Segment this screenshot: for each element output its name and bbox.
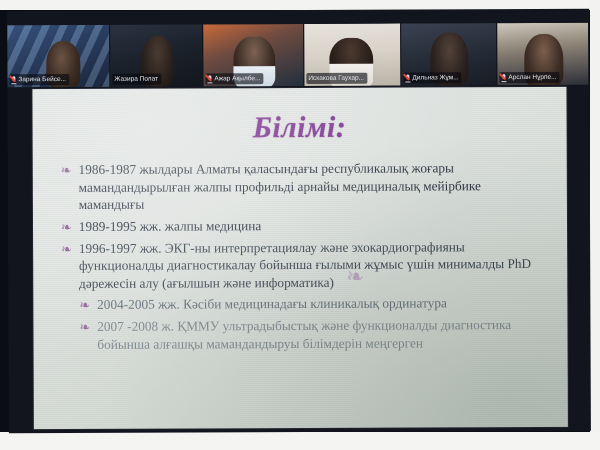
participant-name: Жазира Полат (114, 75, 158, 84)
participant-tile[interactable]: Арслан Нұрпе... (497, 23, 589, 85)
participant-namebar: Зарина Бейсе... (9, 74, 69, 85)
floral-heart-bullet-icon: ☙ (79, 296, 90, 314)
participant-namebar: Жазира Полат (112, 74, 161, 85)
muted-mic-icon (501, 74, 506, 82)
slide-bullet-item: ☙ 1996-1997 жж. ЭКГ-ны интерпретациялау … (61, 237, 541, 292)
slide-bullet-list: ☙ 1986-1987 жылдары Алматы қаласындағы р… (33, 159, 568, 353)
participant-namebar: Дильназ Жұм... (403, 72, 461, 83)
slide-bullet-item: ☙ 1986-1987 жылдары Алматы қаласындағы р… (61, 159, 541, 214)
muted-mic-icon (11, 76, 16, 84)
participant-tile[interactable]: Ажар Ақылбе... (203, 24, 304, 86)
floral-heart-bullet-icon: ☙ (61, 161, 72, 179)
participant-name: Искакова Гаухар... (308, 74, 364, 83)
participant-tile[interactable]: Жазира Полат (110, 24, 203, 86)
floral-heart-bullet-icon: ☙ (79, 318, 90, 336)
participant-name: Ажар Ақылбе... (214, 74, 260, 83)
muted-mic-icon (207, 75, 212, 83)
participant-name: Арслан Нұрпе... (508, 73, 556, 82)
participant-name: Зарина Бейсе... (18, 75, 66, 84)
participant-namebar: Ажар Ақылбе... (205, 73, 263, 84)
slide-bullet-text: 1986-1987 жылдары Алматы қаласындағы рес… (79, 159, 541, 214)
participant-filmstrip: Зарина Бейсе... Жазира Полат Ажар Ақылбе… (7, 23, 589, 88)
participant-namebar: Искакова Гаухар... (306, 73, 367, 84)
participant-name: Дильназ Жұм... (412, 73, 458, 82)
floral-heart-bullet-icon: ☙ (61, 239, 72, 257)
slide-title: Білімі: (32, 87, 566, 147)
participant-tile[interactable]: Зарина Бейсе... (7, 25, 110, 87)
slide-bullet-text: 1989-1995 жж. жалпы медицина (79, 215, 541, 235)
slide-bullet-text: 1996-1997 жж. ЭКГ-ны интерпретациялау жә… (79, 237, 541, 292)
floral-heart-bullet-icon: ☙ (61, 217, 72, 235)
slide-bullet-text: 2007 -2008 ж. ҚММУ ультрадыбыстық және ф… (97, 316, 541, 353)
photo-background-bottom (0, 432, 600, 450)
muted-mic-icon (405, 74, 410, 82)
shared-presentation-slide: Білімі: ☙ 1986-1987 жылдары Алматы қалас… (32, 87, 567, 429)
photographed-screen-frame: Зарина Бейсе... Жазира Полат Ажар Ақылбе… (0, 0, 600, 450)
participant-namebar: Арслан Нұрпе... (499, 72, 559, 83)
participant-tile[interactable]: Искакова Гаухар... (304, 24, 401, 86)
monitor-screen: Зарина Бейсе... Жазира Полат Ажар Ақылбе… (7, 9, 591, 434)
photo-background-right (590, 0, 600, 450)
slide-bullet-text: 2004-2005 жж. Кәсіби медицинадағы клиник… (97, 294, 541, 313)
slide-bullet-item: ☙ 2004-2005 жж. Кәсіби медицинадағы клин… (61, 294, 541, 314)
participant-tile[interactable]: Дильназ Жұм... (401, 23, 497, 85)
slide-bullet-item: ☙ 1989-1995 жж. жалпы медицина (61, 215, 541, 235)
slide-bullet-item: ☙ 2007 -2008 ж. ҚММУ ультрадыбыстық және… (61, 316, 541, 353)
